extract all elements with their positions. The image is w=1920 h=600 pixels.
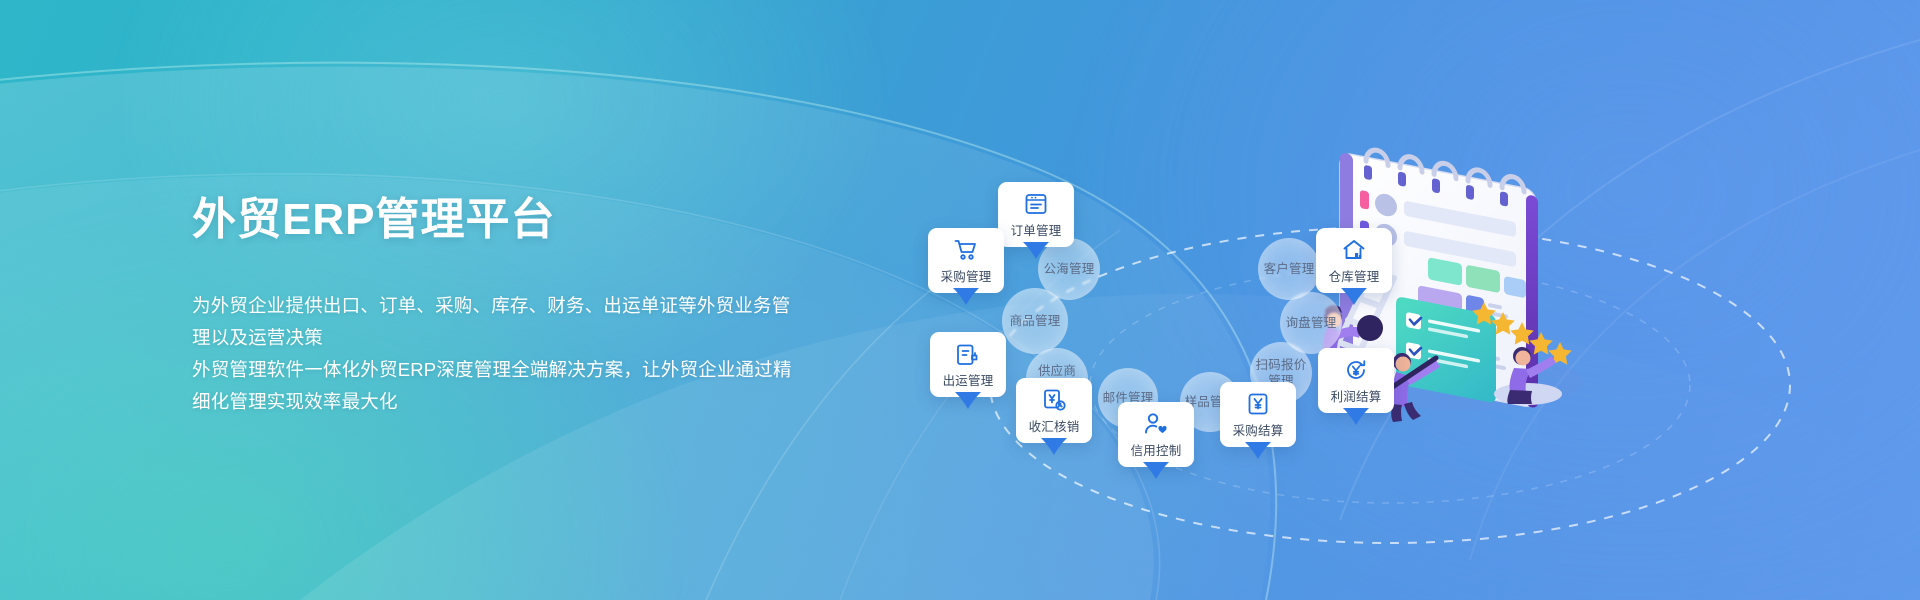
description-line-1: 为外贸企业提供出口、订单、采购、库存、财务、出运单证等外贸业务管 <box>192 290 832 322</box>
description-line-3: 外贸管理软件一体化外贸ERP深度管理全端解决方案，让外贸企业通过精 <box>192 354 832 386</box>
module-card-order-management[interactable]: 订单管理 <box>998 182 1074 247</box>
card-pointer-pin <box>1143 462 1169 480</box>
module-card-label: 收汇核销 <box>1029 416 1080 435</box>
order-document-icon <box>1023 191 1049 217</box>
shopping-cart-icon <box>953 237 979 263</box>
chip-inquiry-management[interactable]: 询盘管理 <box>1280 292 1342 354</box>
module-card-profit-settlement[interactable]: 利润结算 <box>1318 348 1394 413</box>
module-card-credit-control[interactable]: 信用控制 <box>1118 402 1194 467</box>
module-card-purchase-settlement[interactable]: 采购结算 <box>1220 382 1296 447</box>
chip-label: 公海管理 <box>1044 261 1095 277</box>
card-pointer-pin <box>1023 242 1049 260</box>
chip-label: 询盘管理 <box>1286 315 1337 331</box>
description-line-4: 细化管理实现效率最大化 <box>192 386 832 418</box>
card-pointer-pin <box>1041 438 1067 456</box>
card-pointer-pin <box>1245 442 1271 460</box>
yuan-invoice-icon <box>1245 391 1271 417</box>
chip-label: 商品管理 <box>1010 313 1061 329</box>
module-card-label: 出运管理 <box>943 370 994 389</box>
module-card-label: 信用控制 <box>1131 440 1182 459</box>
module-card-label: 订单管理 <box>1011 220 1062 239</box>
hero-banner: 外贸ERP管理平台 为外贸企业提供出口、订单、采购、库存、财务、出运单证等外贸业… <box>0 0 1920 600</box>
page-title: 外贸ERP管理平台 <box>192 196 832 244</box>
module-card-warehouse-management[interactable]: 仓库管理 <box>1316 228 1392 293</box>
module-card-purchase-management[interactable]: 采购管理 <box>928 228 1004 293</box>
chip-label: 客户管理 <box>1264 261 1315 277</box>
module-card-label: 利润结算 <box>1331 386 1382 405</box>
card-pointer-pin <box>955 392 981 410</box>
warehouse-home-icon <box>1341 237 1367 263</box>
module-card-foreign-exchange-verification[interactable]: 收汇核销 <box>1016 378 1092 443</box>
card-pointer-pin <box>1341 288 1367 306</box>
card-pointer-pin <box>953 288 979 306</box>
module-card-label: 采购结算 <box>1233 420 1284 439</box>
currency-receipt-icon <box>1041 387 1067 413</box>
card-pointer-pin <box>1343 408 1369 426</box>
module-card-label: 采购管理 <box>941 266 992 285</box>
shipping-clipboard-icon <box>955 341 981 367</box>
chip-product-management[interactable]: 商品管理 <box>1002 288 1068 354</box>
module-card-label: 仓库管理 <box>1329 266 1380 285</box>
erp-module-illustration: 公海管理 商品管理 供应商 管理 邮件管理 样品管理 扫码报价 管理 询盘管理 … <box>920 110 1920 600</box>
chip-customer-management[interactable]: 客户管理 <box>1258 238 1320 300</box>
description-line-2: 理以及运营决策 <box>192 322 832 354</box>
yuan-refresh-icon <box>1343 357 1369 383</box>
user-heart-icon <box>1143 411 1169 437</box>
module-card-shipping-management[interactable]: 出运管理 <box>930 332 1006 397</box>
hero-description: 为外贸企业提供出口、订单、采购、库存、财务、出运单证等外贸业务管 理以及运营决策… <box>192 290 832 417</box>
hero-copy: 外贸ERP管理平台 为外贸企业提供出口、订单、采购、库存、财务、出运单证等外贸业… <box>192 196 832 418</box>
